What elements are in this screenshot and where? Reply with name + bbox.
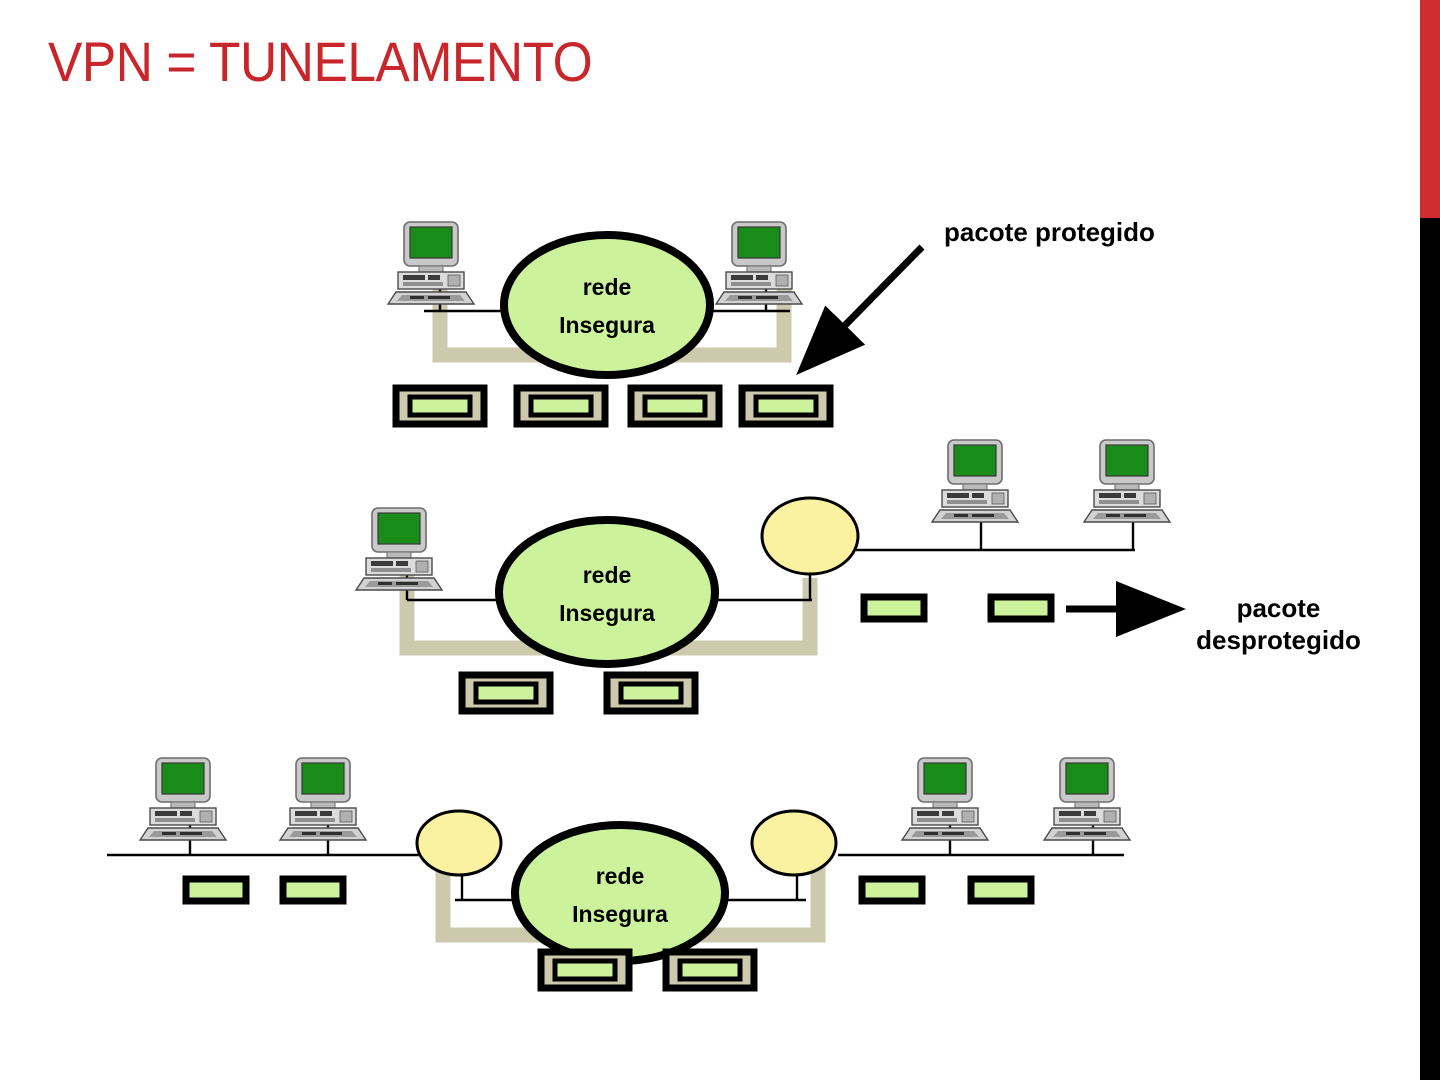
desktop-computer-row2-right2 bbox=[1084, 440, 1170, 522]
desktop-computer-row3-left1 bbox=[140, 758, 226, 840]
vpn-gateway-row2 bbox=[762, 498, 858, 574]
protected-packet-callout-arrow bbox=[806, 247, 922, 365]
row-3-group bbox=[107, 758, 1130, 988]
protected-packet-row3-2 bbox=[666, 952, 754, 988]
insecure-network-cloud-row3 bbox=[515, 825, 725, 961]
desktop-computer-row2-right1 bbox=[932, 440, 1018, 522]
vpn-tunneling-diagram: rede Insegura rede Insegura rede Insegur… bbox=[0, 0, 1440, 1080]
protected-packet-row1-4 bbox=[742, 388, 830, 424]
desktop-computer-row1-left bbox=[388, 222, 474, 304]
desktop-computer-row2-left bbox=[356, 508, 442, 590]
desktop-computer-row1-right bbox=[716, 222, 802, 304]
unprotected-packet-row3-4 bbox=[971, 879, 1031, 901]
unprotected-packet-row3-1 bbox=[186, 879, 246, 901]
unprotected-packet-row2-2 bbox=[991, 597, 1051, 619]
protected-packet-row3-1 bbox=[541, 952, 629, 988]
desktop-computer-row3-right1 bbox=[902, 758, 988, 840]
diagram-vector-layer bbox=[0, 0, 1440, 1080]
vpn-gateway-row3-right bbox=[752, 811, 836, 875]
protected-packet-row2-2 bbox=[607, 675, 695, 711]
row-2-group bbox=[356, 440, 1172, 711]
protected-packet-row1-2 bbox=[517, 388, 605, 424]
protected-packet-row2-1 bbox=[462, 675, 550, 711]
desktop-computer-row3-right2 bbox=[1044, 758, 1130, 840]
insecure-network-cloud-row1 bbox=[504, 235, 710, 375]
vpn-gateway-row3-left bbox=[417, 811, 501, 875]
unprotected-packet-row2-1 bbox=[864, 597, 924, 619]
unprotected-packet-label-line2: desprotegido bbox=[1176, 624, 1381, 656]
row-1-group bbox=[388, 222, 922, 424]
protected-packet-label: pacote protegido bbox=[944, 216, 1155, 248]
unprotected-packet-label-line1: pacote bbox=[1176, 592, 1381, 624]
desktop-computer-row3-left2 bbox=[280, 758, 366, 840]
insecure-network-cloud-row2 bbox=[499, 520, 715, 664]
unprotected-packet-row3-3 bbox=[862, 879, 922, 901]
slide-canvas: VPN = TUNELAMENTO bbox=[0, 0, 1440, 1080]
unprotected-packet-label: pacote desprotegido bbox=[1176, 592, 1381, 656]
unprotected-packet-row3-2 bbox=[283, 879, 343, 901]
protected-packet-row1-1 bbox=[396, 388, 484, 424]
protected-packet-row1-3 bbox=[631, 388, 719, 424]
